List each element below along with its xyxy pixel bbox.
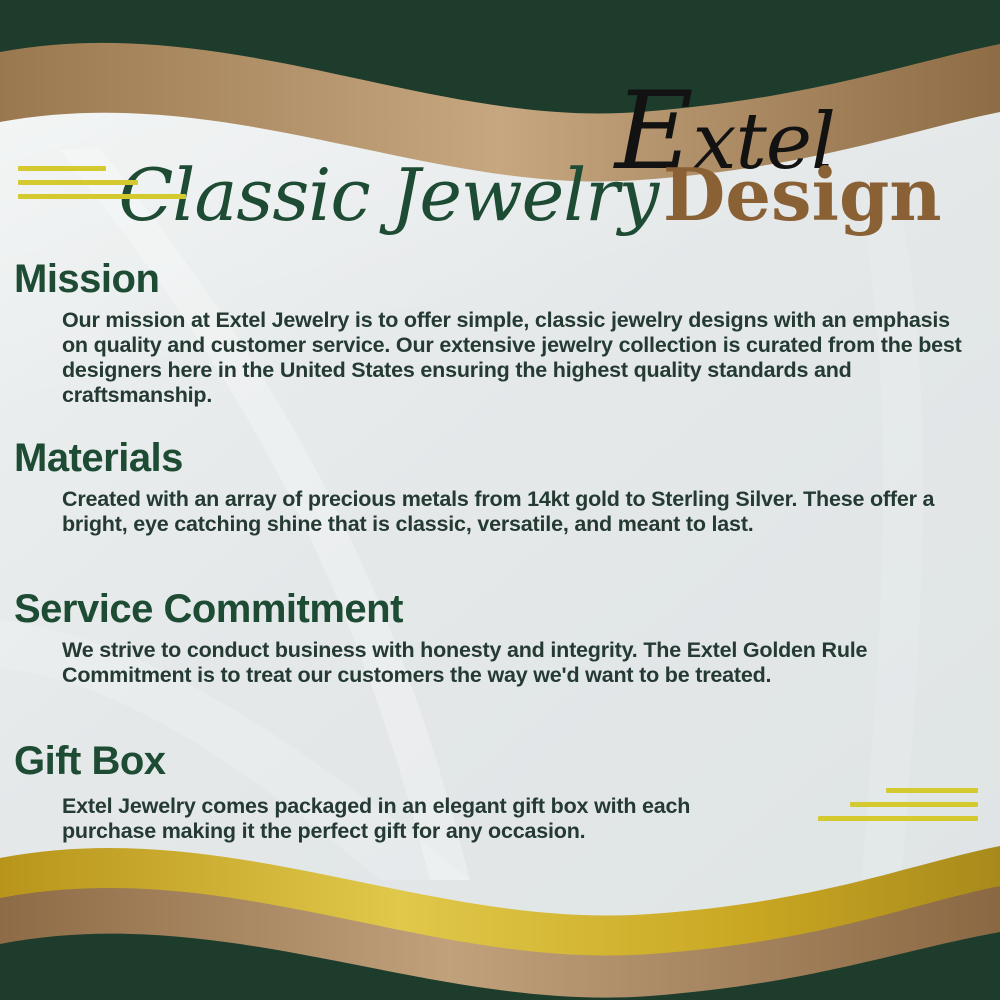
section-body: Extel Jewelry comes packaged in an elega… xyxy=(62,794,762,844)
decorative-lines-top-left xyxy=(18,166,186,208)
section-title: Gift Box xyxy=(14,740,986,782)
decorative-line xyxy=(18,180,138,185)
page-title-part-one: Classic Jewelry xyxy=(118,153,658,237)
section-service-commitment: Service Commitment We strive to conduct … xyxy=(14,588,986,688)
page-title-part-two: Design xyxy=(663,152,942,237)
section-body: We strive to conduct business with hones… xyxy=(62,638,974,688)
section-gift-box: Gift Box Extel Jewelry comes packaged in… xyxy=(14,740,986,844)
section-title: Materials xyxy=(14,437,986,479)
decorative-line xyxy=(18,194,186,199)
poster-canvas: Extel Classic Jewelry Design Mission Our… xyxy=(0,0,1000,1000)
section-title: Service Commitment xyxy=(14,588,986,630)
section-materials: Materials Created with an array of preci… xyxy=(14,437,986,537)
section-title: Mission xyxy=(14,258,986,300)
section-mission: Mission Our mission at Extel Jewelry is … xyxy=(14,258,986,409)
section-body: Our mission at Extel Jewelry is to offer… xyxy=(62,308,974,409)
decorative-line xyxy=(18,166,106,171)
section-body: Created with an array of precious metals… xyxy=(62,487,974,537)
